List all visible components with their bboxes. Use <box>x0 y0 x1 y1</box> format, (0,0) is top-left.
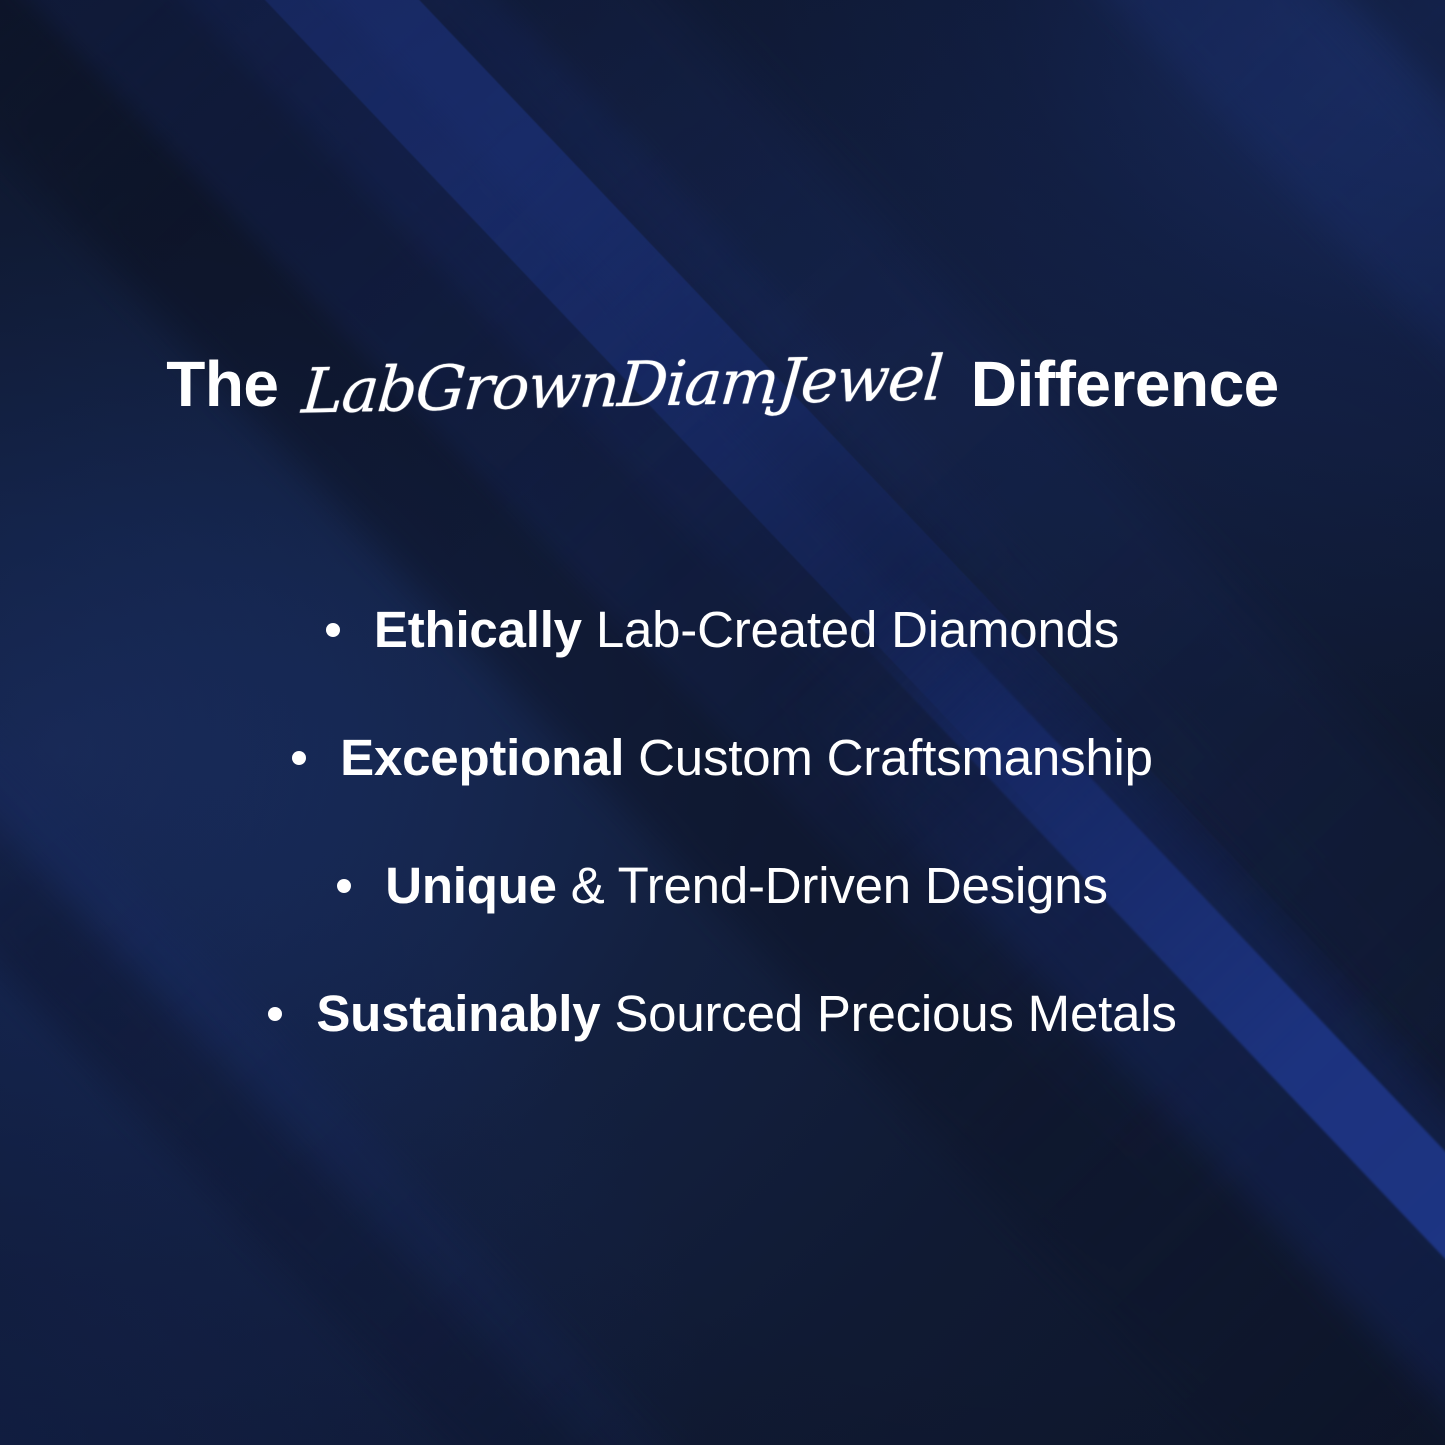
bullet-text: Sustainably Sourced Precious Metals <box>316 987 1176 1041</box>
bullet-rest-text: & Trend-Driven Designs <box>557 857 1108 914</box>
bullet-dot-icon <box>292 751 306 765</box>
list-item: Exceptional Custom Craftsmanship <box>0 694 1445 822</box>
brand-script-wordmark: LabGrownDiamJewel <box>299 347 944 422</box>
headline-suffix: Difference <box>971 352 1279 416</box>
headline-prefix: The <box>166 352 278 416</box>
bullet-dot-icon <box>268 1007 282 1021</box>
page-title: The LabGrownDiamJewel Difference <box>0 352 1445 416</box>
bullet-text: Unique & Trend-Driven Designs <box>385 859 1108 913</box>
list-item: Ethically Lab-Created Diamonds <box>0 566 1445 694</box>
bullet-lead-word: Sustainably <box>316 985 600 1042</box>
bullet-lead-word: Exceptional <box>340 729 624 786</box>
benefits-list: Ethically Lab-Created Diamonds Exception… <box>0 566 1445 1078</box>
bullet-dot-icon <box>337 879 351 893</box>
bullet-text: Ethically Lab-Created Diamonds <box>374 603 1119 657</box>
bullet-lead-word: Unique <box>385 857 557 914</box>
bullet-rest-text: Lab-Created Diamonds <box>582 601 1119 658</box>
bullet-text: Exceptional Custom Craftsmanship <box>340 731 1153 785</box>
promo-graphic: The LabGrownDiamJewel Difference Ethical… <box>0 0 1445 1445</box>
bullet-lead-word: Ethically <box>374 601 582 658</box>
list-item: Sustainably Sourced Precious Metals <box>0 950 1445 1078</box>
content-layer: The LabGrownDiamJewel Difference Ethical… <box>0 0 1445 1445</box>
bullet-rest-text: Sourced Precious Metals <box>600 985 1176 1042</box>
bullet-dot-icon <box>326 623 340 637</box>
bullet-rest-text: Custom Craftsmanship <box>624 729 1153 786</box>
list-item: Unique & Trend-Driven Designs <box>0 822 1445 950</box>
